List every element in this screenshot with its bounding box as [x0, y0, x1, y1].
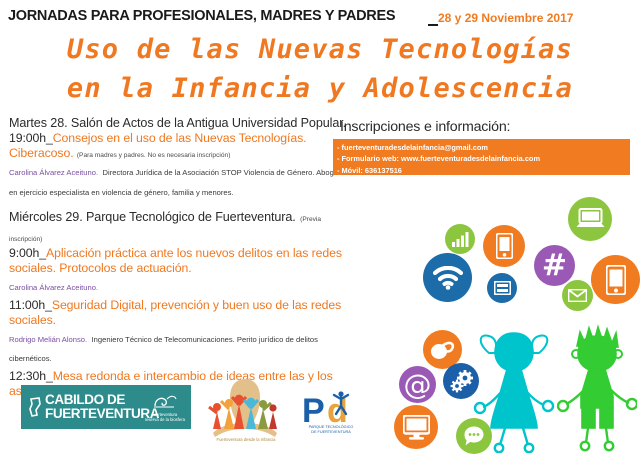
day1-venue: Martes 28. Salón de Actos de la Antigua …: [9, 116, 354, 131]
program-spacer: [9, 200, 354, 207]
cabildo-island-icon: [28, 397, 42, 417]
laptop-icon: [568, 197, 612, 241]
inscriptions-list: - fuerteventuradesdelainfancia@gmail.com…: [333, 139, 630, 176]
boy-figure-icon: [557, 324, 637, 452]
program-day-2: Miércoles 29. Parque Tecnológico de Fuer…: [9, 207, 354, 399]
inscriptions-box: - fuerteventuradesdelainfancia@gmail.com…: [333, 139, 630, 175]
at-sign-icon: @: [399, 366, 436, 403]
poster-kicker: JORNADAS PARA PROFESIONALES, MADRES Y PA…: [8, 8, 395, 24]
day1-session-1: 19:00h_Consejos en el uso de las Nuevas …: [9, 131, 354, 161]
logo-cabildo-subtext: fuerteventura reserva de la biosfera: [145, 388, 185, 422]
program-column: Martes 28. Salón de Actos de la Antigua …: [9, 116, 354, 399]
envelope-icon: [562, 280, 593, 311]
day2-session-2-hour: 11:00h_: [9, 298, 52, 312]
logo-people-caption: Fuerteventura desde la Infancia: [200, 437, 292, 442]
signal-bars-icon: [445, 224, 475, 254]
logo-cabildo-text: CABILDO DE FUERTEVENTURA: [45, 393, 159, 422]
girl-figure-icon: [473, 327, 555, 453]
day2-session-1-speaker-line: Carolina Álvarez Aceituno.: [9, 276, 354, 296]
poster-canvas: JORNADAS PARA PROFESIONALES, MADRES Y PA…: [0, 0, 640, 453]
day2-session-1-speaker: Carolina Álvarez Aceituno.: [9, 283, 98, 292]
inscriptions-title: Inscripciones e información:: [340, 119, 510, 135]
folder-icon: [487, 273, 517, 303]
program-day-1: Martes 28. Salón de Actos de la Antigua …: [9, 116, 354, 200]
at-sign-glyph: @: [404, 368, 432, 401]
logo-cabildo-fuerteventura: CABILDO DE FUERTEVENTURA fuerteventura r…: [21, 385, 191, 429]
day2-session-1: 9:00h_Aplicación práctica ante los nuevo…: [9, 246, 354, 276]
day2-venue: Miércoles 29. Parque Tecnológico de Fuer…: [9, 210, 296, 224]
wifi-icon: [423, 253, 472, 302]
day2-session-2-title: Seguridad Digital, prevención y buen uso…: [9, 298, 341, 327]
day1-session-1-hour: 19:00h_: [9, 131, 53, 145]
day2-session-2: 11:00h_Seguridad Digital, prevención y b…: [9, 298, 354, 328]
hashtag-glyph: #: [542, 248, 567, 283]
smartphone-icon: [483, 225, 525, 267]
day1-session-1-speaker-line: Carolina Álvarez Aceituno. Directora Jur…: [9, 161, 354, 200]
logo-ptd-caption: PARQUE TECNOLÓGICO DE FUERTEVENTURA: [296, 425, 366, 435]
day2-session-2-speaker: Rodrigo Melián Alonso.: [9, 335, 87, 344]
tablet-icon: [591, 255, 640, 304]
day2-session-2-speaker-line: Rodrigo Melián Alonso. Ingeniero Técnico…: [9, 328, 354, 367]
day1-session-1-speaker: Carolina Álvarez Aceituno.: [9, 168, 98, 177]
logo-cabildo-sub-label: fuerteventura reserva de la biosfera: [145, 412, 185, 422]
inscriptions-web[interactable]: - Formulario web: www.fuerteventuradesde…: [337, 153, 630, 164]
day2-session-1-title: Aplicación práctica ante los nuevos deli…: [9, 246, 342, 275]
inscriptions-phone[interactable]: - Móvil: 636137516: [337, 165, 630, 176]
day2-session-3-hour: 12:30h_: [9, 369, 53, 383]
monitor-icon: [394, 405, 438, 449]
day1-session-1-note: (Para madres y padres. No es necesaria i…: [77, 152, 231, 159]
hashtag-icon: #: [534, 245, 575, 286]
inscriptions-email[interactable]: - fuerteventuradesdelainfancia@gmail.com: [337, 142, 630, 153]
poster-dates: 28 y 29 Noviembre 2017: [438, 11, 573, 25]
day2-venue-line: Miércoles 29. Parque Tecnológico de Fuer…: [9, 207, 354, 246]
biosphere-snail-icon: [152, 393, 178, 411]
poster-title: Uso de las Nuevas Tecnologías en la Infa…: [0, 30, 640, 108]
kicker-underline: [428, 24, 438, 26]
day2-session-1-hour: 9:00h_: [9, 246, 46, 260]
